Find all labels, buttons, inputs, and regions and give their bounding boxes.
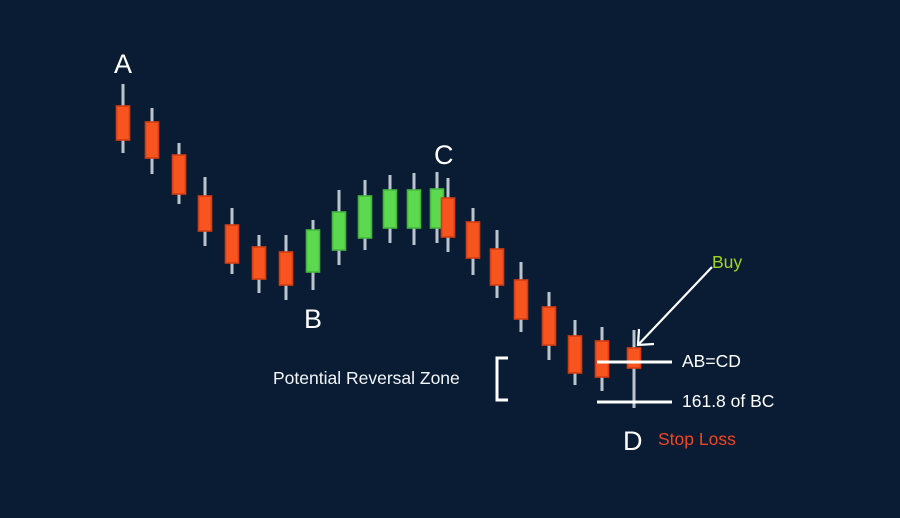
buy-signal-label: Buy [712,254,742,272]
candle-body-bearish [199,196,212,231]
annotations-group [497,267,712,402]
candle-body-bearish [515,280,528,319]
candle-body-bullish [307,230,320,272]
point-c-label: C [434,142,454,169]
candle-body-bullish [333,212,346,250]
candle-body-bullish [384,190,397,228]
candle-body-bearish [173,155,186,194]
stop-loss-label: Stop Loss [658,431,736,449]
candle-body-bullish [359,196,372,238]
candle-body-bearish [442,198,455,237]
candle-body-bearish [543,307,556,345]
fib-161-8-label: 161.8 of BC [682,393,774,411]
point-d-label: D [623,428,643,455]
point-b-label: B [304,306,322,333]
candle-body-bearish [117,106,130,140]
ab-equals-cd-label: AB=CD [682,353,741,371]
candle-body-bearish [628,348,641,368]
candlestick-chart-figure: A B C D Potential Reversal Zone AB=CD 16… [0,0,900,518]
candle-body-bearish [491,249,504,285]
candle-body-bearish [596,341,609,377]
candle-body-bearish [569,336,582,373]
candle-body-bearish [253,247,266,279]
candle-body-bearish [226,225,239,263]
potential-reversal-zone-label: Potential Reversal Zone [273,370,460,388]
buy-arrow-line [638,267,712,345]
candle-body-bearish [467,222,480,258]
candle-body-bearish [146,122,159,158]
candles-group [117,84,641,408]
potential-reversal-zone-bracket [497,358,508,400]
candle-body-bearish [280,252,293,285]
candle-body-bullish [408,190,421,228]
point-a-label: A [114,51,132,78]
candle-wick [633,330,636,408]
chart-canvas [0,0,900,518]
